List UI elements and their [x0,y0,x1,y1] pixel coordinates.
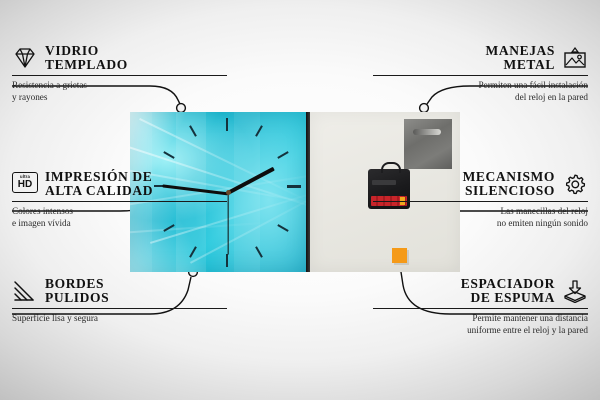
feature-title-line1: MECANISMO [373,170,555,184]
ultra-hd-icon: ultra HD [12,172,38,196]
feature-bordes-pulidos: BORDES PULIDOS Superficie lisa y segura [12,277,227,324]
feature-title-line2: ALTA CALIDAD [45,184,153,198]
feature-subtitle: Superficie lisa y segura [12,312,227,324]
feature-title-line2: METAL [373,58,555,72]
infographic-canvas: VIDRIO TEMPLADO Resistencia a grietas y … [0,0,600,400]
feature-subtitle: Permite mantener una distancia uniforme … [373,312,588,336]
polished-edge-icon [12,279,38,303]
feature-title-line2: SILENCIOSO [373,184,555,198]
feature-title-line1: BORDES [45,277,109,291]
gear-icon [562,172,588,196]
clock-second-hand [227,193,228,255]
feature-divider [373,201,588,202]
feature-subtitle: Colores intensos e imagen vívida [12,205,227,229]
metal-hanger-plate [404,119,452,169]
diamond-icon [12,46,38,70]
feature-divider [12,308,227,309]
feature-mecanismo-silencioso: MECANISMO SILENCIOSO Las manecillas del … [373,170,588,229]
feature-title-line1: IMPRESIÓN DE [45,170,153,184]
feature-subtitle: Las manecillas del reloj no emiten ningú… [373,205,588,229]
feature-subtitle: Permiten una fácil instalación del reloj… [373,79,588,103]
feature-espaciador-espuma: ESPACIADOR DE ESPUMA Permite mantener un… [373,277,588,336]
foam-spacer [392,248,407,263]
feature-divider [373,75,588,76]
feature-title-line2: PULIDOS [45,291,109,305]
foam-spacer-icon [562,279,588,303]
feature-title-line2: DE ESPUMA [373,291,555,305]
feature-divider [373,308,588,309]
feature-impresion-alta-calidad: ultra HD IMPRESIÓN DE ALTA CALIDAD Color… [12,170,227,229]
ultra-hd-large-text: HD [18,180,32,190]
feature-subtitle: Resistencia a grietas y rayones [12,79,227,103]
feature-vidrio-templado: VIDRIO TEMPLADO Resistencia a grietas y … [12,44,227,103]
feature-manejas-metal: MANEJAS METAL Permiten una fácil instala… [373,44,588,103]
feature-title-line1: MANEJAS [373,44,555,58]
feature-title-line1: ESPACIADOR [373,277,555,291]
feature-title-line1: VIDRIO [45,44,128,58]
feature-title-line2: TEMPLADO [45,58,128,72]
feature-divider [12,75,227,76]
picture-hanger-icon [562,46,588,70]
feature-divider [12,201,227,202]
